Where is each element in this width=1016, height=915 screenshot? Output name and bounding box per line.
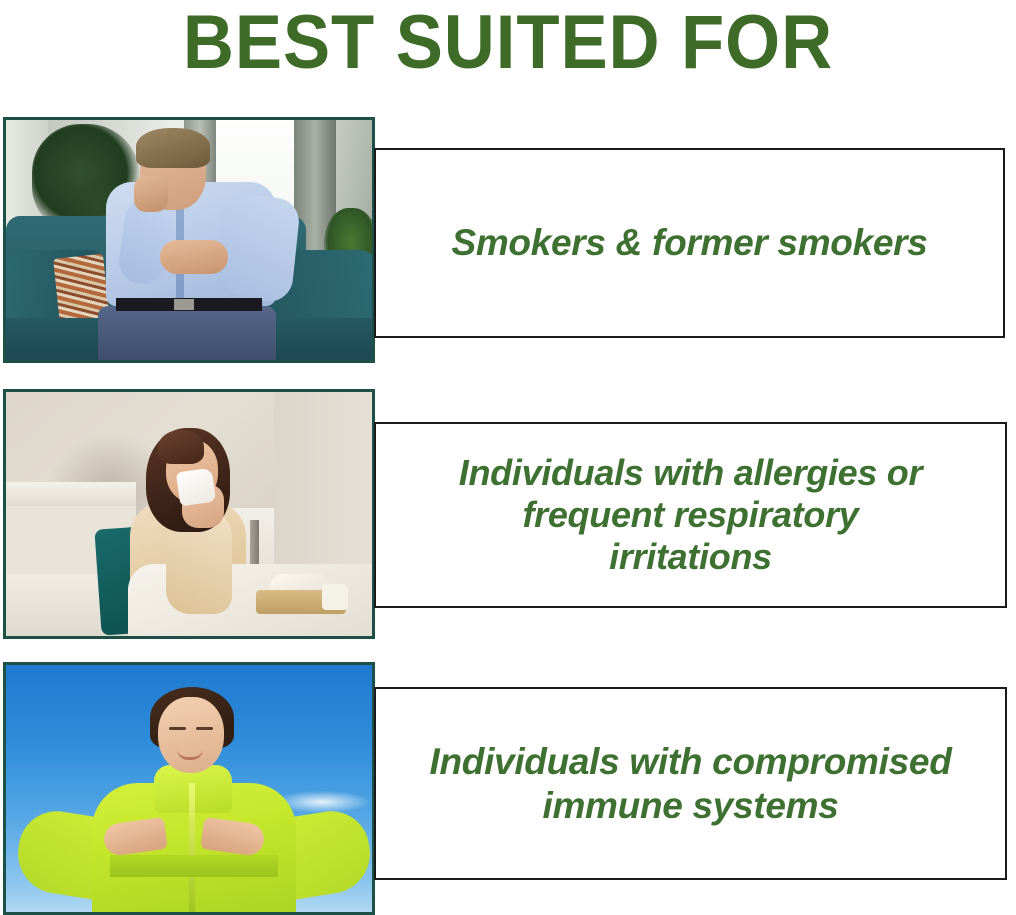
list-item: Individuals with compromised immune syst… bbox=[0, 662, 1016, 915]
caption-box-allergies: Individuals with allergies or frequent r… bbox=[374, 422, 1007, 608]
list-item: Smokers & former smokers bbox=[0, 117, 1016, 363]
caption-line: Individuals with allergies or bbox=[459, 452, 922, 494]
caption-line: frequent respiratory bbox=[459, 494, 922, 536]
man-fist-at-mouth bbox=[134, 176, 168, 212]
woman-face bbox=[158, 697, 224, 773]
caption-box-immune: Individuals with compromised immune syst… bbox=[374, 687, 1007, 880]
woman-eye-left bbox=[169, 727, 186, 730]
caption-line: irritations bbox=[459, 536, 922, 578]
man-jeans bbox=[98, 306, 276, 363]
caption-box-smokers: Smokers & former smokers bbox=[374, 148, 1005, 338]
man-coughing-on-couch-photo bbox=[3, 117, 375, 363]
man-hand-on-chest bbox=[160, 240, 228, 274]
photo-scene bbox=[6, 665, 372, 912]
tissue bbox=[176, 468, 216, 507]
woman-blowing-nose-in-bed-photo bbox=[3, 389, 375, 639]
caption-text-immune: Individuals with compromised immune syst… bbox=[415, 740, 965, 827]
cup bbox=[322, 584, 348, 610]
caption-text-smokers: Smokers & former smokers bbox=[437, 221, 941, 264]
woman-eye-right bbox=[196, 727, 213, 730]
man-shirt-sleeve bbox=[213, 192, 301, 304]
woman-hair-front bbox=[158, 430, 204, 464]
jacket-waistband bbox=[110, 855, 278, 877]
woman-breathing-outdoors-photo bbox=[3, 662, 375, 915]
photo-scene bbox=[6, 392, 372, 636]
list-item: Individuals with allergies or frequent r… bbox=[0, 389, 1016, 639]
caption-line: Individuals with compromised bbox=[429, 740, 951, 783]
page-title: BEST SUITED FOR bbox=[36, 0, 981, 96]
caption-text-allergies: Individuals with allergies or frequent r… bbox=[445, 452, 936, 578]
man-hair bbox=[136, 128, 210, 168]
caption-line: immune systems bbox=[429, 784, 951, 827]
jacket-zipper bbox=[189, 783, 195, 915]
photo-scene bbox=[6, 120, 372, 360]
belt-buckle bbox=[174, 299, 194, 310]
